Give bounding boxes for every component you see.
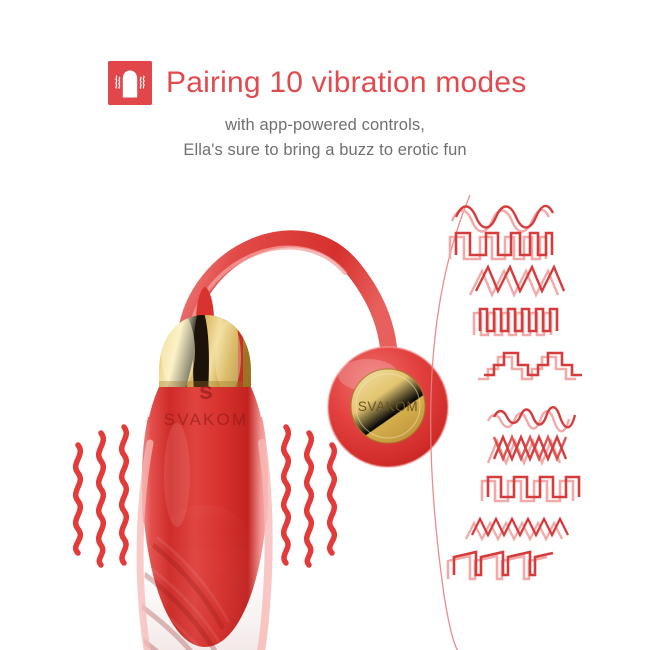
waveform-mode-9	[466, 519, 568, 539]
remote-label: SVAKOM	[358, 399, 418, 414]
product-marketing-image: Pairing 10 vibration modes with app-powe…	[0, 0, 650, 650]
waveform-mode-10	[448, 552, 553, 579]
vibration-mode-waveforms	[440, 175, 650, 650]
waveform-mode-3	[470, 267, 564, 295]
page-title: Pairing 10 vibration modes	[166, 68, 526, 98]
product-illustration: SVAKOM	[0, 175, 650, 650]
vibration-waves-left-icon	[76, 427, 127, 565]
waveform-mode-4	[474, 309, 557, 335]
s-monogram-icon: s	[199, 377, 213, 405]
subtitle-line-2: Ella's sure to bring a buzz to erotic fu…	[0, 138, 650, 163]
waveform-mode-7	[488, 437, 566, 463]
waveform-mode-6	[488, 407, 575, 431]
waveform-mode-5	[478, 353, 582, 379]
vibration-waves-right-icon	[284, 427, 335, 565]
title-row: Pairing 10 vibration modes	[108, 61, 526, 105]
subtitle: with app-powered controls, Ella's sure t…	[0, 113, 650, 163]
subtitle-line-1: with app-powered controls,	[225, 116, 425, 134]
waveform-mode-1	[452, 206, 553, 232]
waveform-mode-8	[482, 477, 579, 501]
waveform-mode-2	[450, 233, 552, 259]
remote-control: SVAKOM	[328, 347, 448, 467]
vibrating-egg-icon	[108, 61, 152, 105]
header: Pairing 10 vibration modes with app-powe…	[0, 0, 650, 175]
body-logo: SVAKOM	[164, 410, 249, 429]
